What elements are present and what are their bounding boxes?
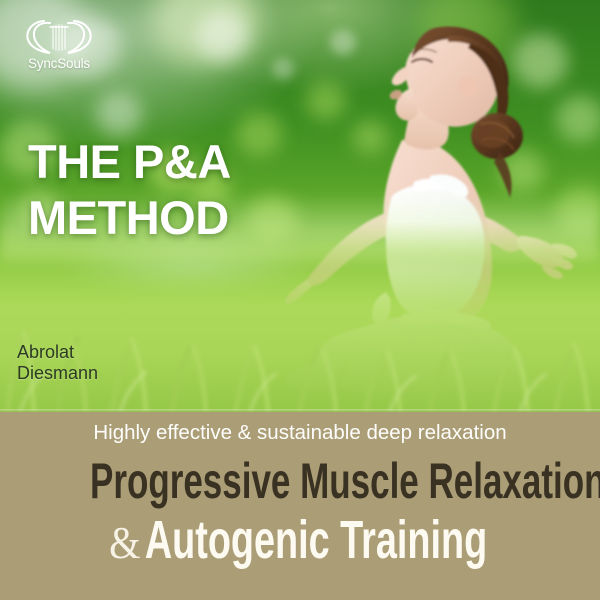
author-name-2: Diesmann [17, 363, 98, 384]
tagline: Highly effective & sustainable deep rela… [0, 421, 600, 445]
lyre-harp-icon [19, 18, 99, 60]
author-names: Abrolat Diesmann [17, 342, 98, 384]
subtitle-line-2-text: Autogenic Training [145, 510, 487, 570]
title-line-1: THE P&A [28, 135, 231, 188]
subtitle-line-2: &Autogenic Training [90, 513, 510, 570]
author-name-1: Abrolat [17, 342, 98, 363]
page-title: THE P&A METHOD [28, 134, 231, 246]
brand-logo[interactable]: SyncSouls [19, 18, 99, 73]
band-divider [0, 409, 600, 412]
title-line-2: METHOD [28, 190, 231, 246]
brand-name: SyncSouls [19, 56, 99, 71]
album-cover: SyncSouls THE P&A METHOD Abrolat Diesman… [0, 0, 600, 600]
ampersand: & [109, 516, 149, 570]
background-photo: SyncSouls THE P&A METHOD Abrolat Diesman… [0, 0, 600, 412]
grass-blades [0, 262, 600, 412]
subtitle-line-1: Progressive Muscle Relaxation [90, 456, 510, 506]
